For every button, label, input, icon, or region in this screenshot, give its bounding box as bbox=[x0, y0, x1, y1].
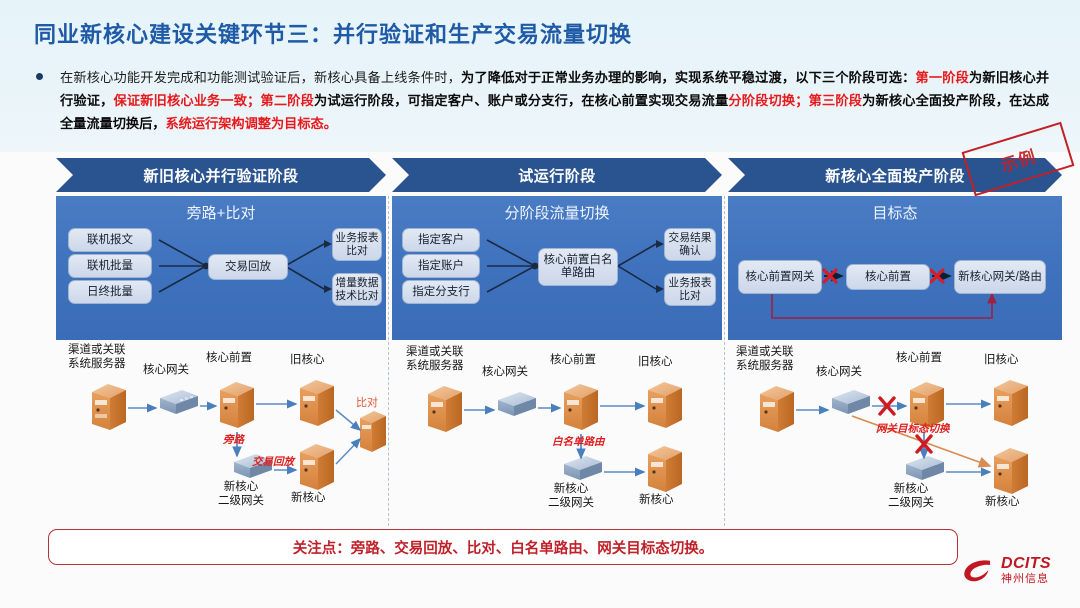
dcits-swoosh-icon bbox=[962, 557, 996, 585]
concept-chain-3-2[interactable]: 核心前置 bbox=[846, 264, 930, 290]
concept-box-1: 旁路+比对 联机报文 联机批量 日终批量 交易回放 业务报表比对 增量数据技术比… bbox=[56, 196, 386, 340]
phase-banner-2[interactable]: 试运行阶段 bbox=[392, 158, 722, 192]
server-icon-new-core-3 bbox=[994, 448, 1028, 494]
label-new-core-3: 新核心 bbox=[985, 496, 1020, 510]
concept-output-2-2[interactable]: 业务报表比对 bbox=[664, 273, 716, 306]
server-icon-frontend-1 bbox=[220, 382, 254, 428]
label-old-core-1: 旧核心 bbox=[290, 354, 325, 368]
concept-input-2-1[interactable]: 指定客户 bbox=[402, 228, 480, 252]
server-icon-frontend-2 bbox=[564, 384, 598, 430]
callout-text: 关注点：旁路、交易回放、比对、白名单路由、网关目标态切换。 bbox=[293, 537, 714, 558]
concept-input-1-3[interactable]: 日终批量 bbox=[68, 280, 152, 304]
phase-banner-1[interactable]: 新旧核心并行验证阶段 bbox=[56, 158, 386, 192]
gateway-icon-core-1 bbox=[160, 390, 198, 414]
concept-center-1[interactable]: 交易回放 bbox=[208, 254, 288, 280]
bullet-segment: 为试运行阶段，可指定客户、账户或分支行，在核心前置实现交易流量 bbox=[314, 93, 728, 108]
concept-box-3: 目标态 核心前置网关 核心前置 新核心网关/路由 bbox=[728, 196, 1062, 340]
server-icon-old-core-3 bbox=[994, 380, 1028, 426]
annotation-bypass-1: 旁路 bbox=[223, 434, 244, 448]
server-diagram-3: 渠道或关联系统服务器 核心网关 核心前置 旧核心 网关目标态切换 新核心二级网关… bbox=[728, 344, 1062, 520]
server-icon-compare-1 bbox=[360, 411, 386, 452]
server-diagram-2: 渠道或关联系统服务器 核心网关 核心前置 旧核心 白名单路由 新核心二级网关 新… bbox=[392, 344, 722, 520]
bullet-segment: 保证新旧核心业务一致； bbox=[113, 93, 260, 108]
gateway-icon-core-3 bbox=[832, 390, 870, 414]
label-old-core-2: 旧核心 bbox=[638, 356, 673, 370]
annotation-gateway-switch-3: 网关目标态切换 bbox=[876, 423, 950, 437]
phase-column-3: 目标态 核心前置网关 核心前置 新核心网关/路由 bbox=[728, 196, 1062, 520]
phase-column-1: 旁路+比对 联机报文 联机批量 日终批量 交易回放 业务报表比对 增量数据技术比… bbox=[56, 196, 386, 520]
bullet-segment: 第二阶段 bbox=[260, 93, 314, 108]
bullet-block: 在新核心功能开发完成和功能测试验证后，新核心具备上线条件时，为了降低对于正常业务… bbox=[34, 66, 1049, 135]
label-gateway-3: 核心网关 bbox=[816, 366, 862, 380]
bullet-segment: 分阶段切换； bbox=[728, 93, 808, 108]
bullet-segment: 在新核心功能开发完成和功能测试验证后，新核心具备上线条件时， bbox=[60, 70, 461, 85]
annotation-replay-1: 交易回放 bbox=[252, 456, 294, 470]
demo-stamp-label: 示例 bbox=[997, 142, 1039, 176]
label-old-core-3: 旧核心 bbox=[984, 354, 1019, 368]
gateway-icon-new-secondary-3 bbox=[906, 456, 944, 480]
label-new-core-1: 新核心 bbox=[291, 492, 326, 506]
gateway-icon-new-secondary-2 bbox=[564, 456, 602, 480]
concept-box-2: 分阶段流量切换 指定客户 指定账户 指定分支行 核心前置白名单路由 交易结果确认… bbox=[392, 196, 722, 340]
label-new-core-2: 新核心 bbox=[639, 494, 674, 508]
concept-input-2-3[interactable]: 指定分支行 bbox=[402, 280, 480, 304]
label-source-1: 渠道或关联系统服务器 bbox=[68, 344, 126, 371]
bullet-segment: 第一阶段 bbox=[916, 70, 969, 85]
label-source-3: 渠道或关联系统服务器 bbox=[736, 346, 794, 373]
server-icon-source-3 bbox=[760, 386, 794, 432]
bullet-text: 在新核心功能开发完成和功能测试验证后，新核心具备上线条件时，为了降低对于正常业务… bbox=[60, 66, 1049, 135]
label-frontend-1: 核心前置 bbox=[206, 352, 252, 366]
label-gateway-2: 核心网关 bbox=[482, 366, 528, 380]
page-title: 同业新核心建设关键环节三：并行验证和生产交易流量切换 bbox=[34, 17, 632, 49]
concept-input-2-2[interactable]: 指定账户 bbox=[402, 254, 480, 278]
label-frontend-2: 核心前置 bbox=[550, 354, 596, 368]
server-icon-source-2 bbox=[428, 386, 462, 432]
label-source-2: 渠道或关联系统服务器 bbox=[406, 346, 464, 373]
bullet-segment: 系统运行架构调整为目标态。 bbox=[166, 116, 337, 131]
bullet-dot-icon bbox=[36, 73, 43, 80]
callout-box: 关注点：旁路、交易回放、比对、白名单路由、网关目标态切换。 bbox=[48, 529, 958, 565]
gateway-icon-core-2 bbox=[498, 392, 536, 416]
server-icon-old-core-1 bbox=[300, 380, 334, 426]
column-divider-1 bbox=[388, 196, 389, 526]
label-frontend-3: 核心前置 bbox=[896, 352, 942, 366]
bullet-segment: 第三阶段 bbox=[808, 93, 862, 108]
company-logo: DCITS 神州信息 bbox=[962, 556, 1051, 585]
label-new-gateway-2: 新核心二级网关 bbox=[548, 483, 594, 510]
concept-chain-3-3[interactable]: 新核心网关/路由 bbox=[954, 260, 1046, 294]
concept-input-1-2[interactable]: 联机批量 bbox=[68, 254, 152, 278]
bullet-segment: 为了降低对于正常业务办理的影响，实现系统平稳过渡，以下三个阶段可选： bbox=[461, 70, 916, 85]
phase-column-2: 分阶段流量切换 指定客户 指定账户 指定分支行 核心前置白名单路由 交易结果确认… bbox=[392, 196, 722, 520]
label-gateway-1: 核心网关 bbox=[143, 364, 189, 378]
concept-chain-3-1[interactable]: 核心前置网关 bbox=[738, 260, 822, 294]
server-diagram-1: 渠道或关联系统服务器 核心网关 核心前置 旧核心 旁路 交易回放 新核心二级网关… bbox=[56, 344, 386, 520]
label-new-gateway-1: 新核心二级网关 bbox=[218, 481, 264, 508]
server-icon-new-core-2 bbox=[648, 446, 682, 492]
concept-input-1-1[interactable]: 联机报文 bbox=[68, 228, 152, 252]
server-icon-frontend-3 bbox=[910, 382, 944, 428]
concept-output-1-2[interactable]: 增量数据技术比对 bbox=[332, 273, 382, 306]
server-icon-source-1 bbox=[92, 384, 126, 430]
concept-output-1-1[interactable]: 业务报表比对 bbox=[332, 228, 382, 261]
label-compare-1: 比对 bbox=[356, 397, 378, 411]
annotation-whitelist-2: 白名单路由 bbox=[552, 436, 605, 450]
server-icon-new-core-1 bbox=[300, 444, 334, 490]
column-divider-2 bbox=[724, 196, 725, 526]
server-icon-old-core-2 bbox=[648, 382, 682, 428]
concept-output-2-1[interactable]: 交易结果确认 bbox=[664, 228, 716, 261]
label-new-gateway-3: 新核心二级网关 bbox=[888, 483, 934, 510]
logo-cn-text: 神州信息 bbox=[1001, 574, 1051, 585]
logo-en-text: DCITS bbox=[1001, 556, 1051, 572]
concept-center-2[interactable]: 核心前置白名单路由 bbox=[538, 248, 618, 286]
